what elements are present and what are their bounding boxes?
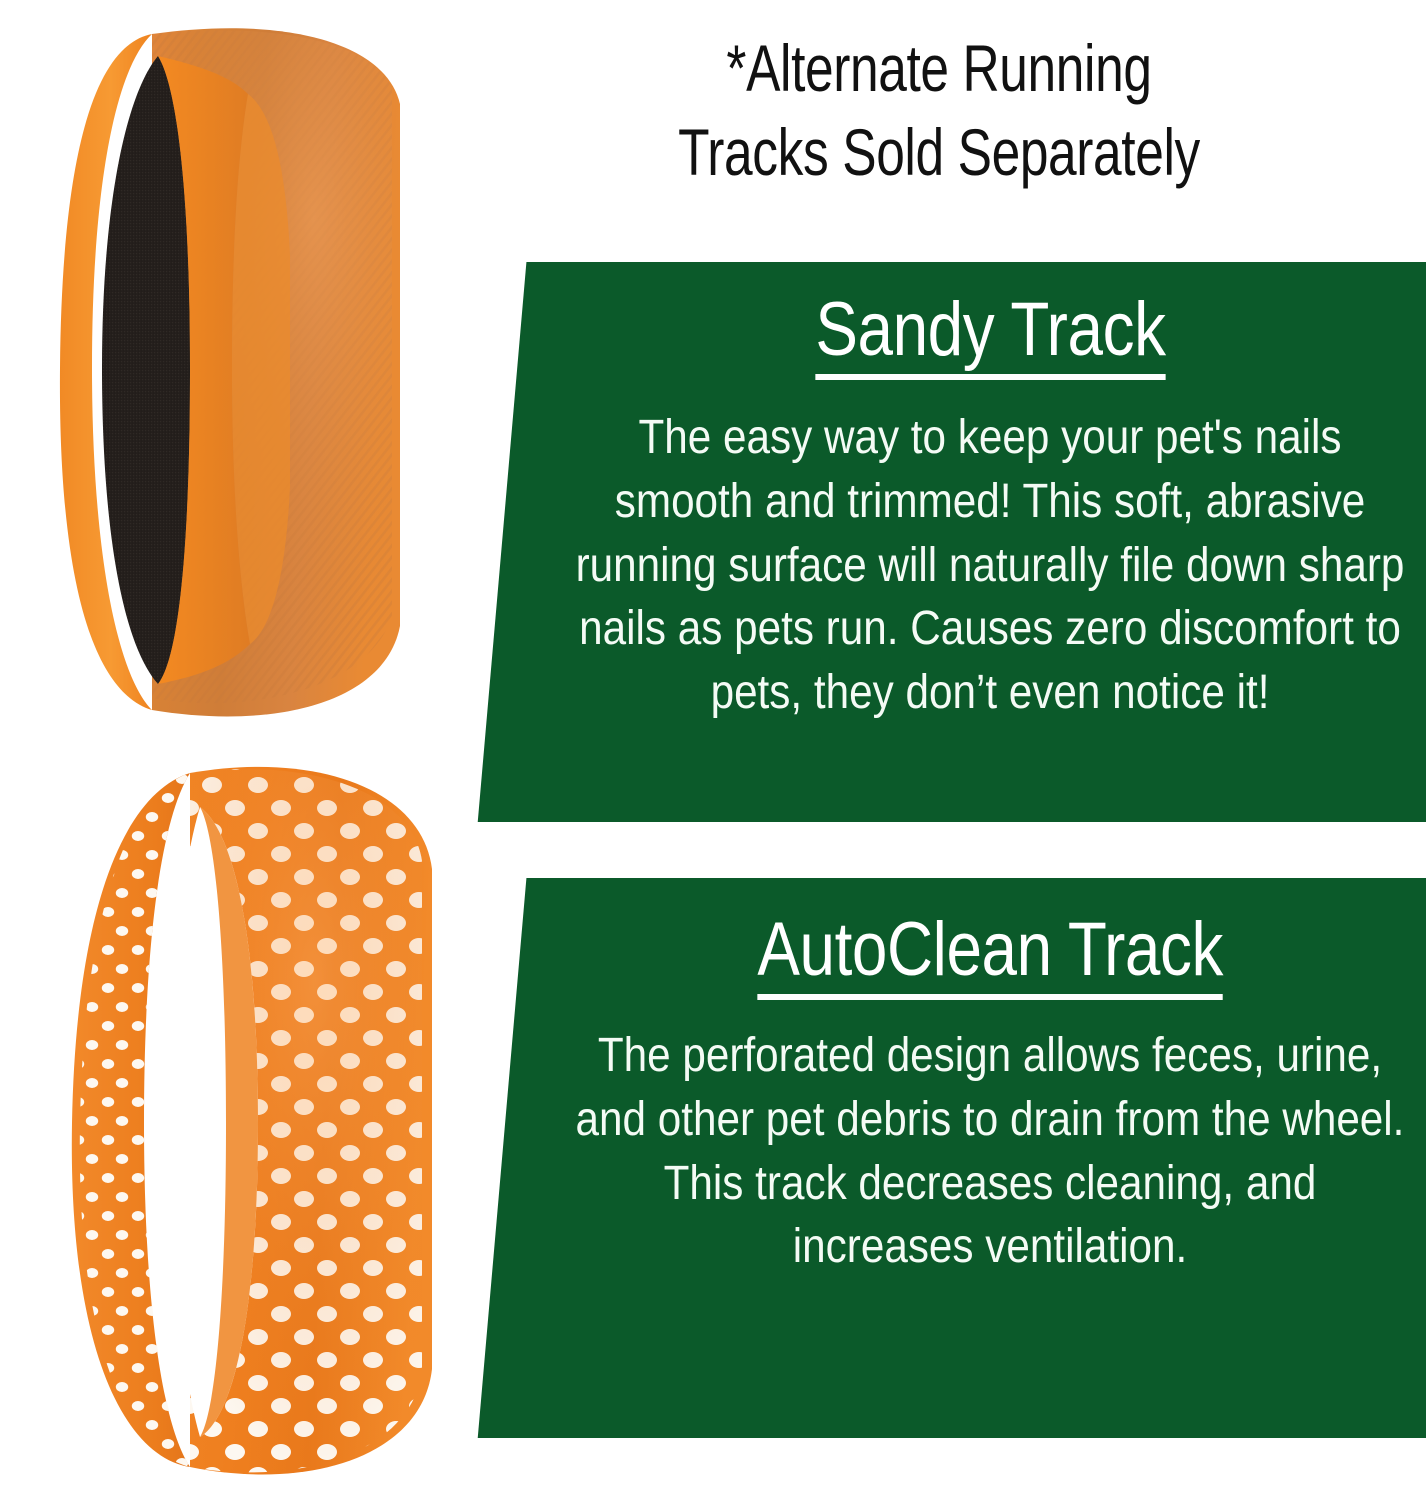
sandy-fold-highlight	[232, 94, 290, 644]
sandy-abrasive-strip	[102, 56, 190, 684]
sandy-track-band-icon	[40, 16, 470, 741]
autoclean-track-product-image	[40, 751, 470, 1493]
sandy-track-description: The easy way to keep your pet's nails sm…	[574, 406, 1406, 725]
autoclean-track-panel: AutoClean Track The perforated design al…	[432, 878, 1426, 1438]
autoclean-track-title: AutoClean Track	[757, 912, 1223, 1000]
sandy-track-product-image	[40, 16, 470, 741]
product-image-column	[0, 0, 430, 1477]
sandy-track-panel: Sandy Track The easy way to keep your pe…	[432, 262, 1426, 822]
autoclean-track-description: The perforated design allows feces, urin…	[574, 1024, 1406, 1279]
sandy-track-title: Sandy Track	[815, 292, 1165, 380]
sandy-track-panel-content: Sandy Track The easy way to keep your pe…	[560, 262, 1420, 822]
autoclean-track-band-icon	[40, 751, 470, 1493]
alternate-tracks-note: *Alternate Running Tracks Sold Separatel…	[559, 26, 1319, 195]
autoclean-track-panel-content: AutoClean Track The perforated design al…	[560, 878, 1420, 1438]
